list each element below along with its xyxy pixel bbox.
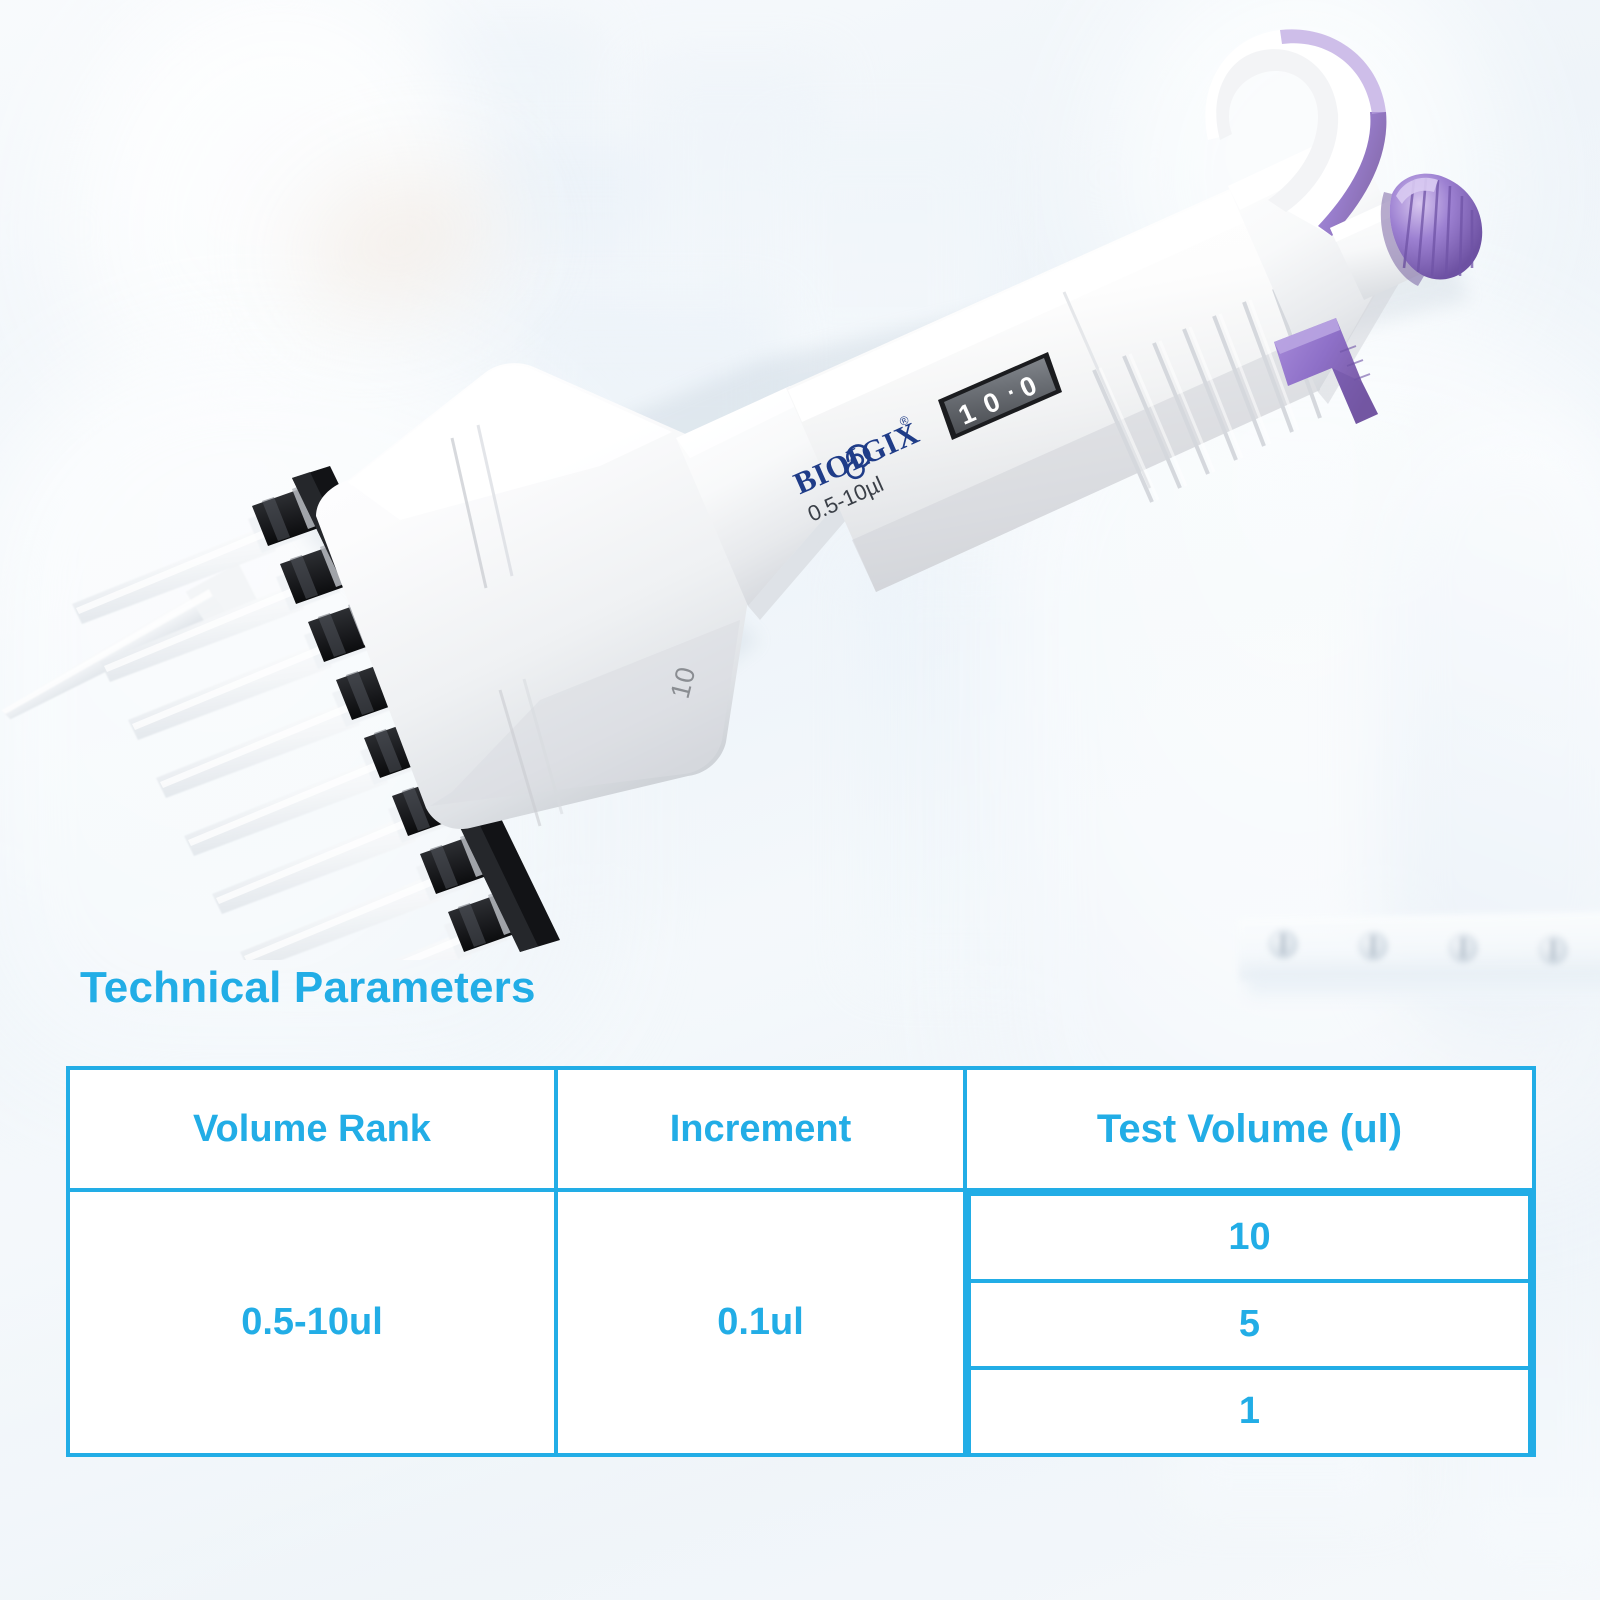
cell-test-volume-3: 1 <box>969 1368 1530 1453</box>
test-volume-row: 5 <box>969 1281 1530 1368</box>
cell-increment: 0.1ul <box>556 1190 965 1455</box>
table-header-row: Volume Rank Increment Test Volume (ul) <box>68 1068 1534 1190</box>
product-image-pipette: 10 1 0 · 0 <box>0 0 1600 960</box>
column-header-volume-rank: Volume Rank <box>68 1068 556 1190</box>
technical-parameters-table: Volume Rank Increment Test Volume (ul) 0… <box>66 1066 1536 1457</box>
product-infographic: 10 1 0 · 0 <box>0 0 1600 1600</box>
table-data-row: 0.5-10ul 0.1ul 10 5 1 <box>68 1190 1534 1455</box>
column-header-increment: Increment <box>556 1068 965 1190</box>
test-volume-row: 1 <box>969 1368 1530 1453</box>
test-volume-row: 10 <box>969 1194 1530 1281</box>
test-volume-subtable: 10 5 1 <box>967 1192 1532 1453</box>
cell-test-volume-1: 10 <box>969 1194 1530 1281</box>
cell-test-volume-2: 5 <box>969 1281 1530 1368</box>
column-header-test-volume: Test Volume (ul) <box>965 1068 1534 1190</box>
cell-test-volumes: 10 5 1 <box>965 1190 1534 1455</box>
background-equipment-rack-shadow <box>1248 972 1600 998</box>
section-title: Technical Parameters <box>80 963 536 1013</box>
cell-volume-rank: 0.5-10ul <box>68 1190 556 1455</box>
